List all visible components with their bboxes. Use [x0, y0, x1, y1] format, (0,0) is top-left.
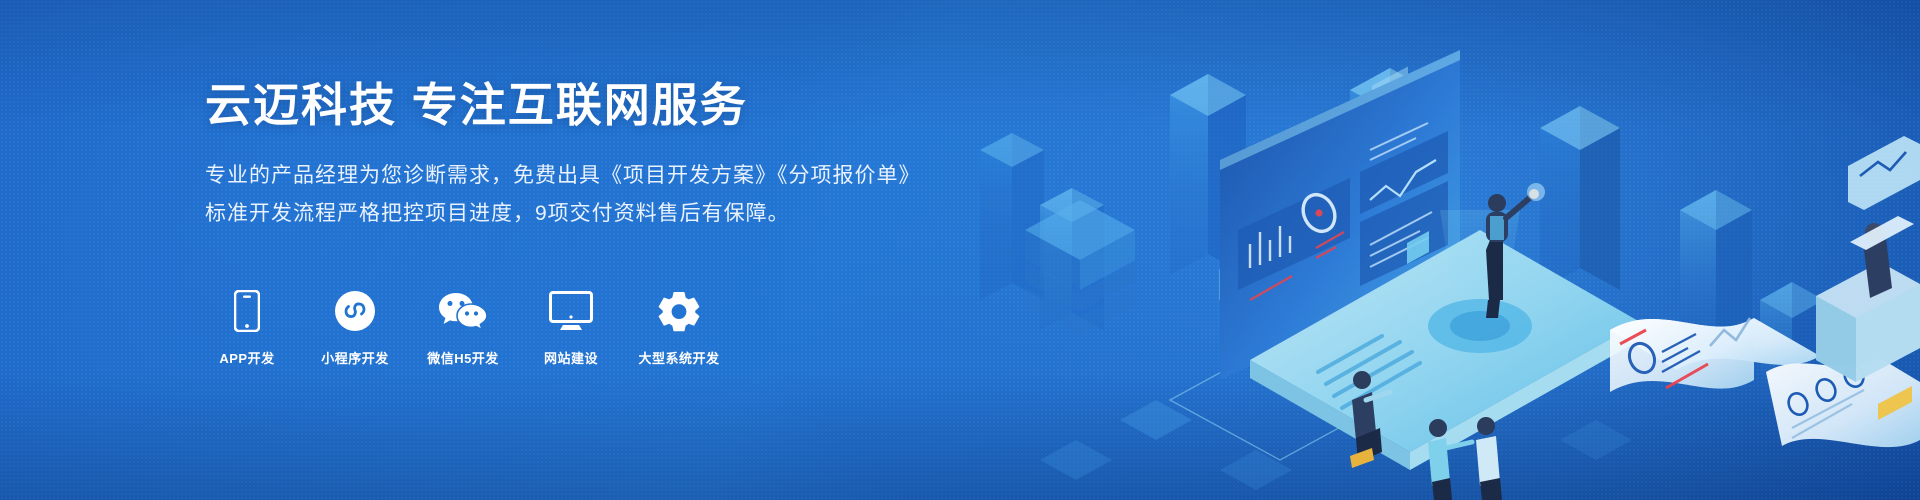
service-item-website[interactable]: 网站建设 [529, 288, 613, 367]
monitor-icon [549, 288, 593, 334]
hero-copy: 云迈科技 专注互联网服务 专业的产品经理为您诊断需求，免费出具《项目开发方案》《… [205, 78, 1085, 231]
service-item-mini-program[interactable]: 小程序开发 [313, 288, 397, 367]
mini-program-icon [334, 288, 376, 334]
wechat-icon [438, 288, 488, 334]
service-label: 微信H5开发 [427, 348, 499, 367]
floating-mini-card [1848, 136, 1920, 210]
service-list: APP开发 小程序开发 微信 [205, 288, 721, 367]
service-label: 小程序开发 [321, 348, 389, 367]
service-item-wechat-h5[interactable]: 微信H5开发 [421, 288, 505, 367]
service-label: 网站建设 [544, 348, 598, 367]
subtitle-line-2: 标准开发流程严格把控项目进度，9项交付资料售后有保障。 [205, 196, 1085, 231]
page-title: 云迈科技 专注互联网服务 [205, 78, 1085, 132]
service-label: 大型系统开发 [638, 348, 719, 367]
service-item-large-system[interactable]: 大型系统开发 [637, 288, 721, 367]
person-with-laptop [1816, 216, 1920, 382]
mobile-phone-icon [234, 288, 260, 334]
service-item-app[interactable]: APP开发 [205, 288, 289, 367]
service-label: APP开发 [219, 348, 274, 367]
hero-banner: 云迈科技 专注互联网服务 专业的产品经理为您诊断需求，免费出具《项目开发方案》《… [0, 0, 1920, 500]
isometric-tech-illustration [920, 0, 1920, 500]
subtitle-line-1: 专业的产品经理为您诊断需求，免费出具《项目开发方案》《分项报价单》 [205, 158, 1085, 193]
gear-icon [658, 288, 700, 334]
